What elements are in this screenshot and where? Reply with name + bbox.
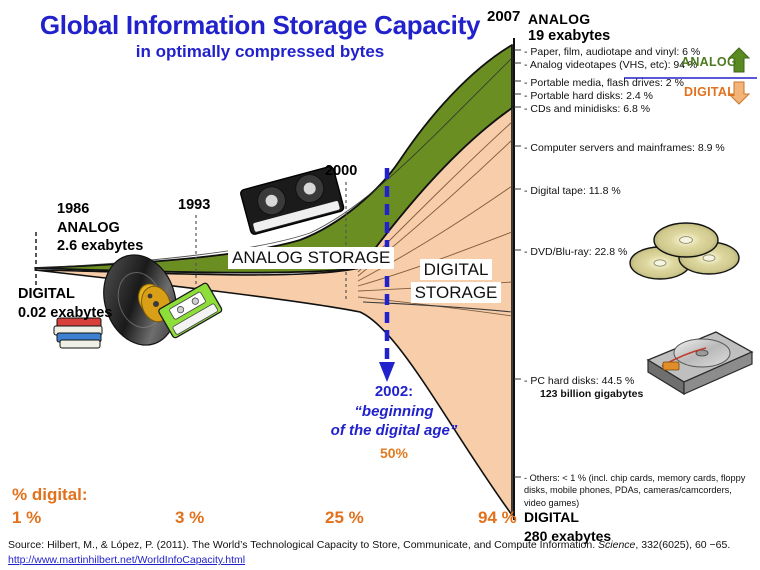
page-subtitle: in optimally compressed bytes — [30, 42, 490, 62]
year-2007: 2007 — [487, 8, 520, 25]
label-1986-digital: DIGITAL 0.02 exabytes — [18, 285, 112, 322]
legend-digital-label: DIGITAL — [684, 85, 735, 99]
right-panel-analog-value: 19 exabytes — [528, 28, 610, 44]
right-axis-ticks — [514, 50, 521, 477]
year-1993: 1993 — [178, 197, 210, 213]
digital-value-1986: 0.02 exabytes — [18, 304, 112, 323]
dvd-discs-icon — [630, 223, 739, 279]
list-item-subvalue: 123 billion gigabytes — [540, 387, 643, 401]
legend-analog-label: ANALOG — [681, 55, 737, 69]
annotation-2002: 2002: “beginning of the digital age” 50% — [324, 382, 464, 462]
source-middle: , 332(6025), 60 −65. — [635, 539, 730, 551]
year-1986: 1986 — [57, 200, 143, 219]
digital-word-1986: DIGITAL — [18, 285, 112, 304]
digital-storage-label-line2: STORAGE — [411, 282, 502, 303]
annotation-2002-line1: “beginning — [354, 403, 433, 420]
year-2000: 2000 — [325, 163, 357, 179]
annotation-2002-year: 2002: — [375, 383, 413, 400]
books-icon — [54, 318, 102, 348]
source-prefix: Source: Hilbert, M., & López, P. (2011).… — [8, 539, 598, 551]
percent-digital-caption: % digital: — [12, 485, 88, 505]
list-item: - Digital tape: 11.8 % — [524, 184, 621, 198]
annotation-2002-percent: 50% — [324, 444, 464, 462]
analog-value-1986: 2.6 exabytes — [57, 237, 143, 256]
percent-digital-2000: 25 % — [325, 508, 364, 528]
source-link[interactable]: http://www.martinhilbert.net/WorldInfoCa… — [8, 554, 245, 566]
page-title: Global Information Storage Capacity — [30, 10, 490, 41]
source-citation: Source: Hilbert, M., & López, P. (2011).… — [8, 538, 754, 568]
right-panel-digital-heading: DIGITAL — [524, 508, 611, 527]
list-item: - Others: < 1 % (incl. chip cards, memor… — [524, 472, 756, 509]
percent-digital-1993: 3 % — [175, 508, 204, 528]
right-panel-analog-heading: ANALOG — [528, 11, 590, 27]
label-1986-analog: 1986 ANALOG 2.6 exabytes — [57, 200, 143, 256]
list-item: - DVD/Blu-ray: 22.8 % — [524, 245, 627, 259]
list-item: - Computer servers and mainframes: 8.9 % — [524, 141, 725, 155]
digital-storage-label: DIGITAL STORAGE — [408, 259, 504, 305]
percent-digital-2007: 94 % — [478, 508, 517, 528]
hard-disk-icon — [648, 332, 752, 394]
percent-digital-1986: 1 % — [12, 508, 41, 528]
analog-word-1986: ANALOG — [57, 219, 143, 238]
list-item: - CDs and minidisks: 6.8 % — [524, 102, 650, 116]
analog-storage-label: ANALOG STORAGE — [228, 247, 394, 269]
annotation-2002-line2: of the digital age” — [331, 422, 458, 439]
source-journal: Science — [598, 539, 635, 551]
digital-storage-label-line1: DIGITAL — [420, 259, 493, 280]
list-item: - Analog videotapes (VHS, etc): 94 % — [524, 58, 697, 72]
